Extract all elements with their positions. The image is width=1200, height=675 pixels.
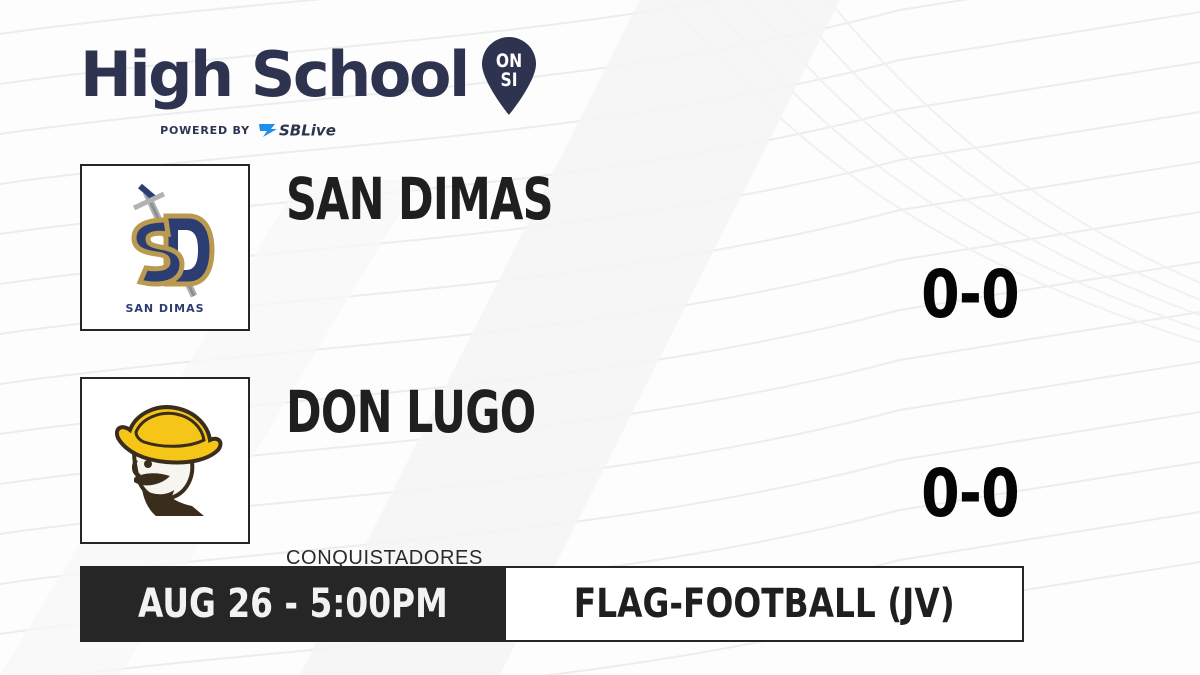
home-logo-caption-text: SAN DIMAS	[125, 302, 204, 315]
powered-by-row: POWERED BY SBLive	[80, 120, 432, 140]
pin-line2-text: SI	[500, 70, 517, 92]
san-dimas-sd-sword-logo-icon: SAN DIMAS	[82, 166, 248, 329]
away-team-name: DON LUGO	[286, 383, 535, 441]
home-team-record: 0-0	[903, 262, 1037, 328]
away-team-logo-box	[80, 377, 250, 544]
game-sport-text: FLAG-FOOTBALL (JV)	[574, 584, 955, 624]
don-lugo-conquistador-logo-icon	[82, 379, 248, 542]
brand-wordmark-row: High School ON SI	[80, 34, 510, 116]
away-team-record: 0-0	[903, 461, 1037, 527]
brand-wordmark-text: High School	[80, 45, 468, 105]
powered-by-label: POWERED BY	[160, 124, 250, 137]
home-team-logo-box: SAN DIMAS	[80, 164, 250, 331]
brand-logo: High School ON SI POWERED BY SBLive	[80, 34, 510, 140]
sblive-logo-icon: SBLive	[257, 120, 352, 140]
game-datetime-text: AUG 26 - 5:00PM	[138, 584, 448, 624]
game-datetime-block: AUG 26 - 5:00PM	[80, 566, 506, 642]
game-info-bar: AUG 26 - 5:00PM FLAG-FOOTBALL (JV)	[80, 566, 1024, 642]
sblive-wordmark-text: SBLive	[279, 122, 336, 140]
matchup-graphic: High School ON SI POWERED BY SBLive	[0, 0, 1200, 675]
home-team-name: SAN DIMAS	[286, 170, 553, 228]
on-si-pin-icon: ON SI	[478, 34, 540, 116]
game-sport-block: FLAG-FOOTBALL (JV)	[506, 566, 1025, 642]
